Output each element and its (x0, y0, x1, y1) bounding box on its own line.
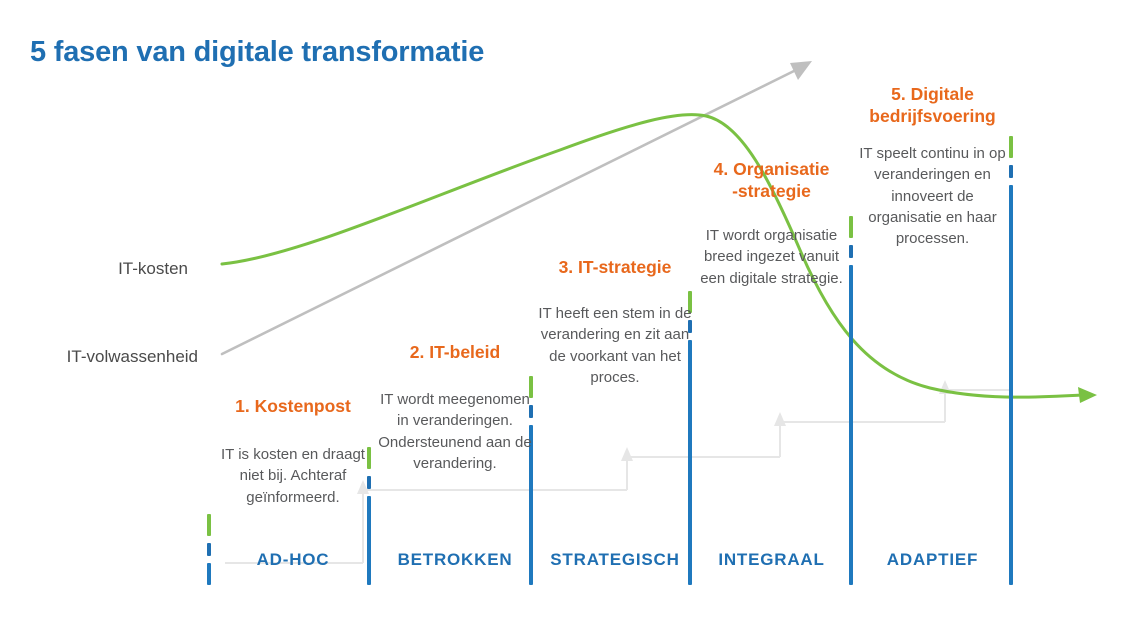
phase-body-4: IT wordt organisatie breed ingezet vanui… (700, 225, 843, 289)
axis-label-it-volwassenheid: IT-volwassenheid (0, 347, 198, 367)
phase-body-1: IT is kosten en draagt niet bij. Achtera… (215, 444, 371, 508)
phase-title-2: 2. IT-beleid (375, 342, 535, 364)
phase-body-3: IT heeft een stem in de verandering en z… (537, 303, 693, 388)
stage-label-strategisch: STRATEGISCH (535, 550, 695, 570)
phase-title-3: 3. IT-strategie (535, 257, 695, 279)
divider-green-cap (207, 514, 211, 536)
stage-label-adaptief: ADAPTIEF (855, 550, 1010, 570)
divider-blue-stem (367, 496, 371, 585)
phase-title-5: 5. Digitale bedrijfsvoering (855, 84, 1010, 128)
phase-title-1: 1. Kostenpost (213, 396, 373, 418)
stage-label-integraal: INTEGRAAL (694, 550, 849, 570)
divider-blue-dash (849, 245, 853, 258)
infographic-canvas: 5 fasen van digitale transformatie IT-ko… (0, 0, 1126, 625)
phase-body-2: IT wordt meegenomen in veranderingen. On… (375, 389, 535, 474)
divider-blue-dash (1009, 165, 1013, 178)
divider-blue-dash (207, 543, 211, 556)
phase-title-4: 4. Organisatie -strategie (694, 159, 849, 203)
phase-title-5-line-1: 5. Digitale (855, 84, 1010, 106)
phase-title-4-line-2: -strategie (694, 181, 849, 203)
page-title: 5 fasen van digitale transformatie (30, 36, 484, 69)
divider-green-cap (849, 216, 853, 238)
axis-label-it-kosten: IT-kosten (0, 259, 188, 279)
divider-blue-stem (1009, 185, 1013, 585)
stage-label-ad-hoc: AD-HOC (213, 550, 373, 570)
stage-label-betrokken: BETROKKEN (375, 550, 535, 570)
phase-title-5-line-2: bedrijfsvoering (855, 106, 1010, 128)
phase-body-5: IT speelt continu in op veranderingen en… (857, 143, 1008, 249)
divider-blue-stem (207, 563, 211, 585)
maturity-arrow (222, 61, 812, 354)
divider-blue-stem (849, 265, 853, 585)
phase-title-4-line-1: 4. Organisatie (694, 159, 849, 181)
divider-green-cap (1009, 136, 1013, 158)
